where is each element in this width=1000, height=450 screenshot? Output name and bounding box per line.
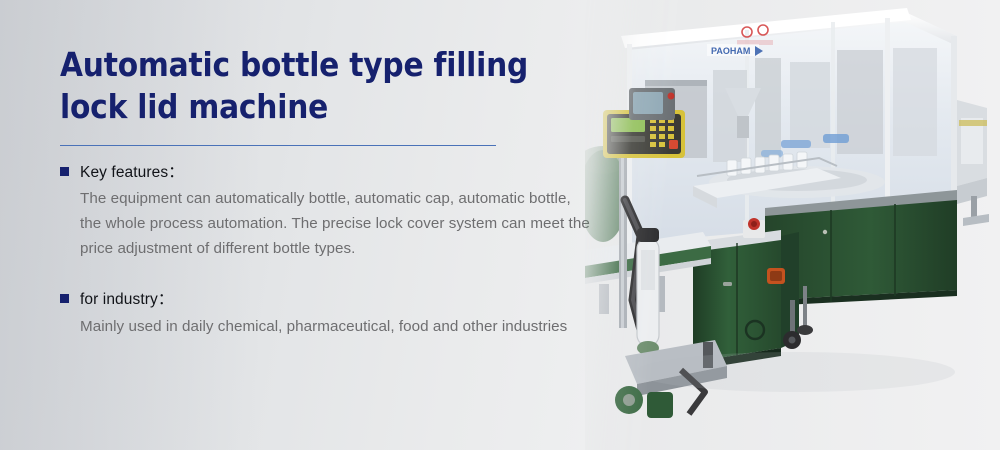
text-column: Automatic bottle type filling lock lid m… (60, 44, 605, 340)
feature-block-key-features: Key features： The equipment can automati… (60, 164, 605, 261)
machine-illustration: PAOHAM (585, 0, 1000, 450)
feature-body-text: Mainly used in daily chemical, pharmaceu… (80, 315, 592, 340)
title-divider (60, 145, 496, 146)
svg-text:PAOHAM: PAOHAM (711, 46, 750, 56)
bullet-square-icon (60, 294, 69, 303)
indicator-lamp (668, 93, 675, 100)
product-photo: PAOHAM (585, 0, 1000, 450)
lcd-display (611, 118, 645, 132)
feature-block-for-industry: for industry： Mainly used in daily chemi… (60, 291, 605, 339)
product-banner: Automatic bottle type filling lock lid m… (0, 0, 1000, 450)
bullet-square-icon (60, 167, 69, 176)
feature-body-text: The equipment can automatically bottle, … (80, 187, 592, 261)
feature-heading-label: for industry： (80, 291, 173, 310)
feature-heading-label: Key features： (80, 164, 184, 183)
page-title: Automatic bottle type filling lock lid m… (60, 44, 605, 128)
power-connector (767, 268, 785, 284)
feature-heading-row: for industry： (60, 291, 605, 310)
emergency-stop-button[interactable] (743, 218, 765, 238)
enclosure-logo: PAOHAM (707, 44, 763, 56)
panel-red-button (669, 140, 678, 149)
feature-heading-row: Key features： (60, 164, 605, 183)
sensor-tube (637, 228, 659, 355)
